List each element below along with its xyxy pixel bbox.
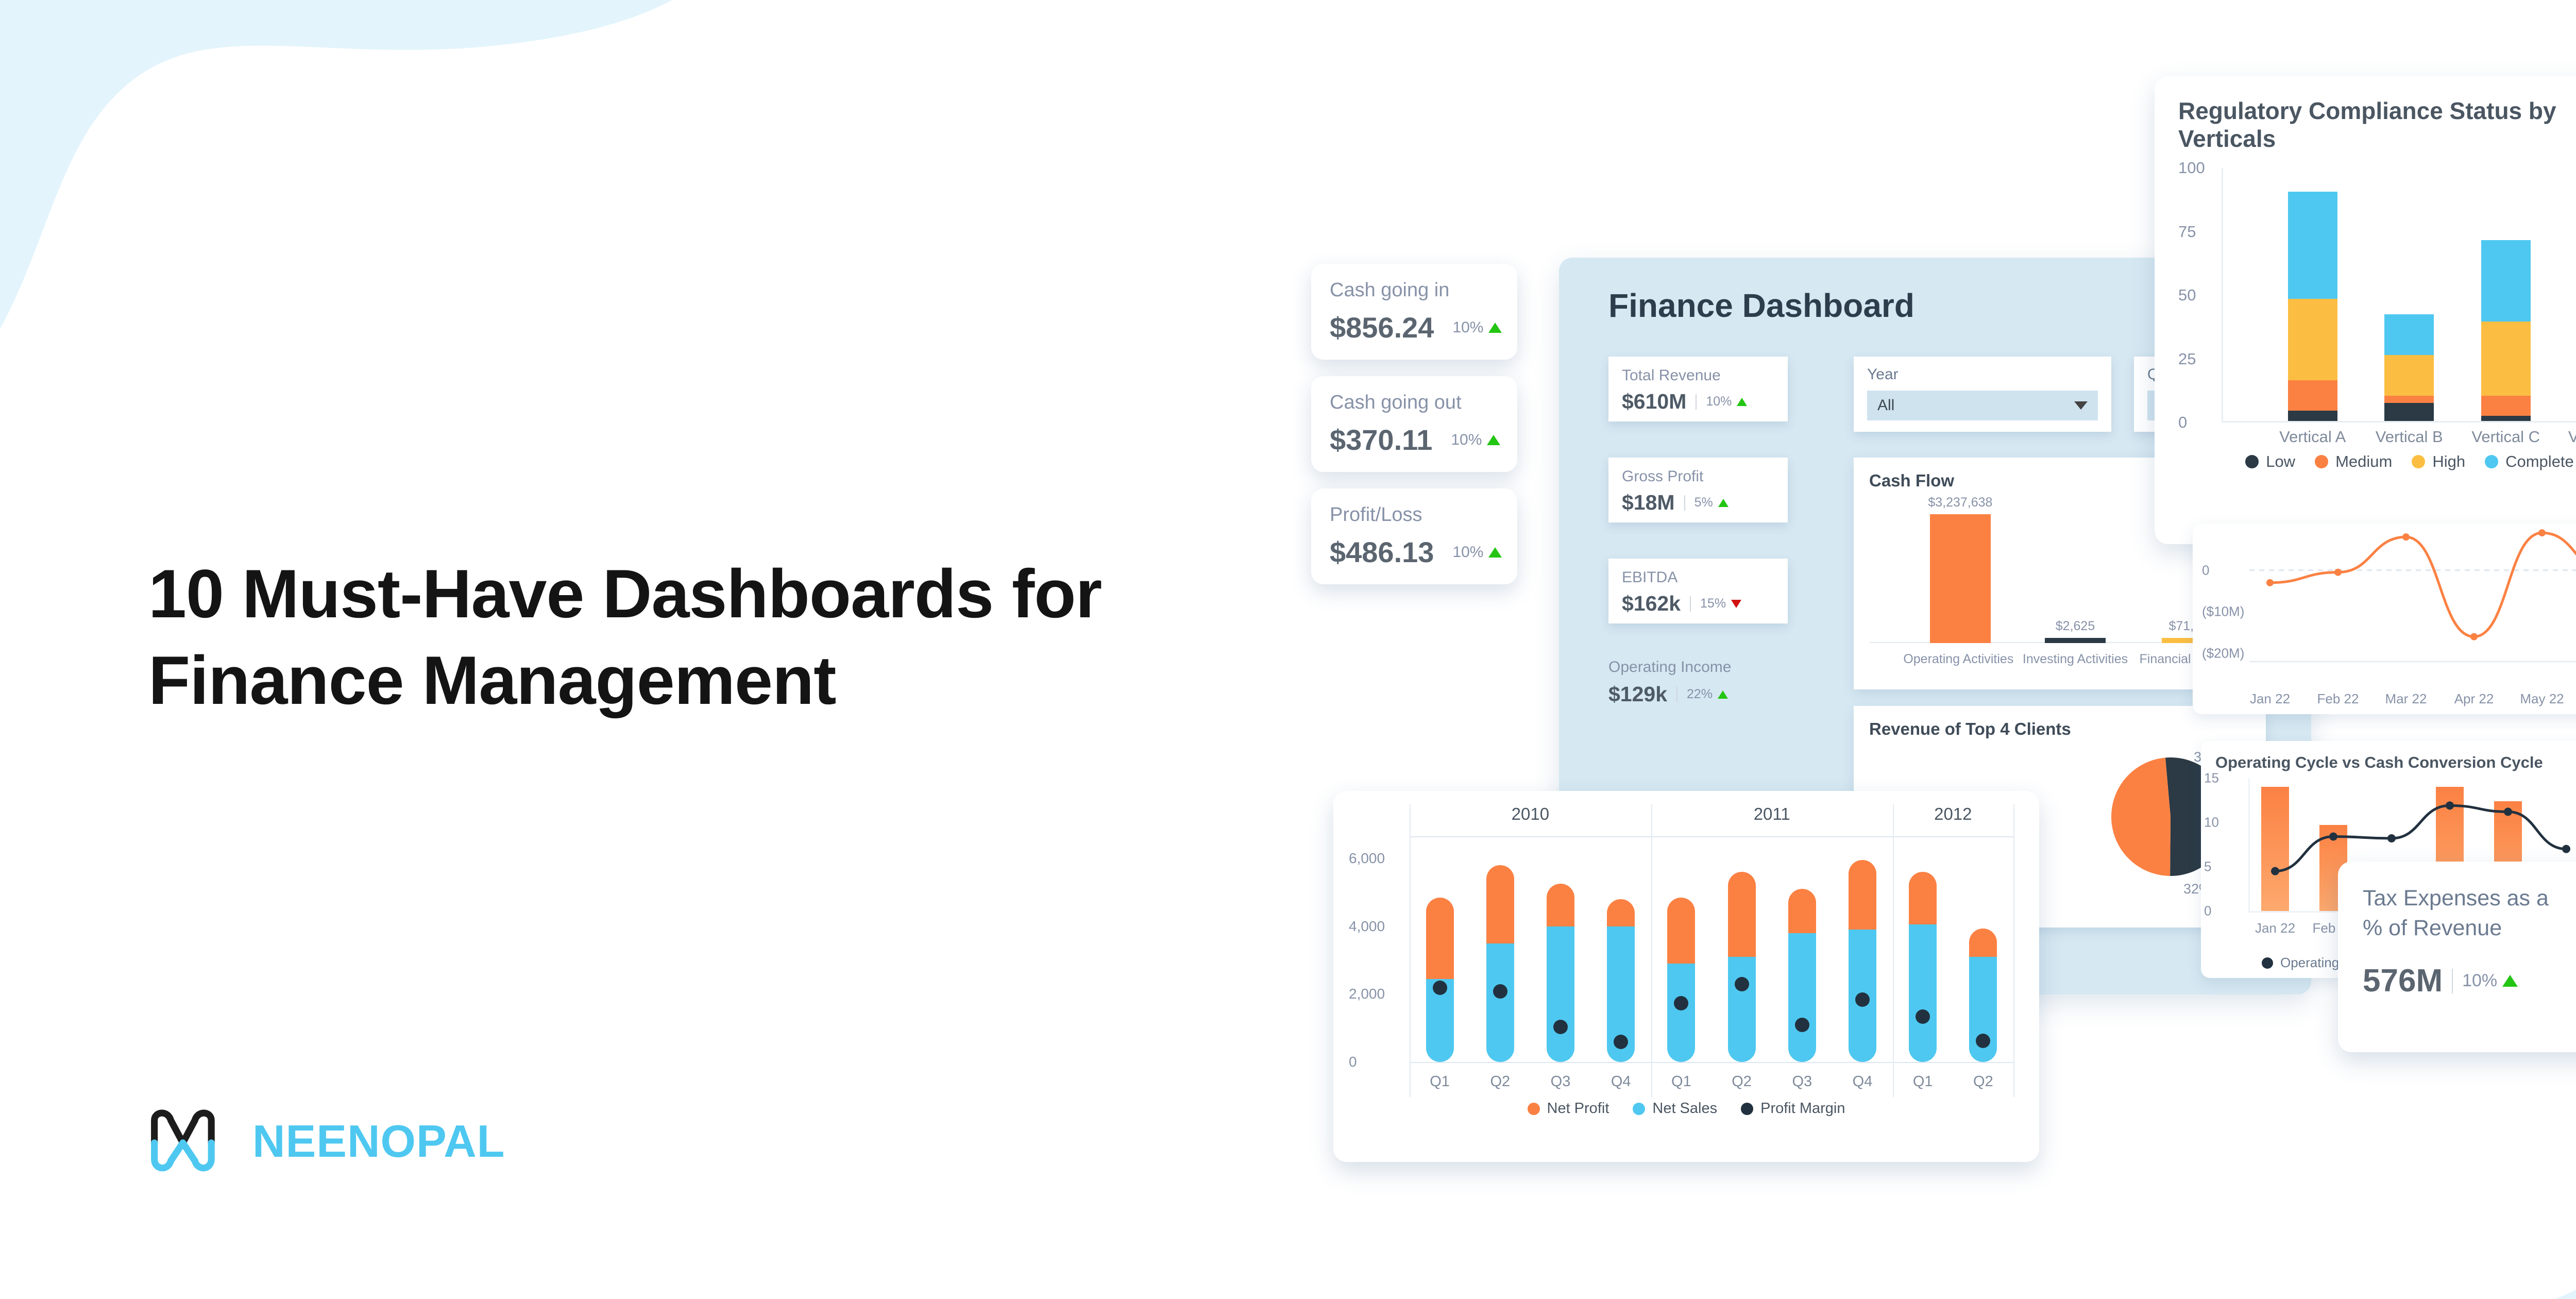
x-axis-tick: Q4 bbox=[1611, 1073, 1631, 1090]
y-axis-tick: 0 bbox=[1349, 1054, 1357, 1070]
legend-dot bbox=[1633, 1103, 1645, 1115]
x-axis-tick: Vertical A bbox=[2279, 428, 2346, 446]
data-point[interactable] bbox=[2266, 579, 2274, 586]
kpi-value: $162k bbox=[1622, 592, 1681, 616]
kpi-card-profit-loss[interactable]: Profit/Loss $486.13 10% bbox=[1311, 488, 1517, 584]
kpi-value: $486.13 bbox=[1330, 535, 1434, 569]
y-axis-tick: 25 bbox=[2178, 350, 2196, 368]
chevron-down-icon bbox=[2074, 401, 2088, 410]
bar-segment-net-profit bbox=[1547, 884, 1574, 926]
y-axis-tick: 6,000 bbox=[1349, 850, 1385, 867]
trend-up-icon bbox=[2502, 975, 2518, 987]
x-axis-tick: Feb 22 bbox=[2317, 691, 2359, 707]
profit-margin-marker[interactable] bbox=[1916, 1009, 1930, 1024]
x-axis-tick: May 22 bbox=[2520, 691, 2564, 707]
y-axis-line bbox=[2222, 168, 2223, 423]
x-axis-tick: Mar 22 bbox=[2385, 691, 2427, 707]
bar-segment-net-sales bbox=[1547, 926, 1574, 1062]
bar-segment-medium bbox=[2288, 380, 2337, 411]
net-profit-plot: 02,0004,0006,000201020112012Q1Q2Q3Q4Q1Q2… bbox=[1349, 804, 2024, 1098]
net-profit-net-sales-chart-card: 02,0004,0006,000201020112012Q1Q2Q3Q4Q1Q2… bbox=[1333, 791, 2039, 1162]
legend-dot bbox=[1741, 1103, 1753, 1115]
legend-item[interactable]: Net Sales bbox=[1633, 1100, 1717, 1117]
kpi-delta-text: 10% bbox=[1706, 394, 1732, 409]
bar-segment-net-sales bbox=[1486, 943, 1514, 1062]
stacked-bar[interactable] bbox=[2384, 314, 2434, 421]
x-axis-tick: Vertical D bbox=[2568, 428, 2576, 446]
stacked-bar[interactable] bbox=[2481, 240, 2531, 421]
stacked-bar[interactable] bbox=[1909, 872, 1937, 1062]
trend-down-icon bbox=[1731, 600, 1741, 608]
legend-dot bbox=[2245, 455, 2259, 468]
kpi-label: Cash going out bbox=[1330, 392, 1499, 414]
kpi-card-cash-going-out[interactable]: Cash going out $370.11 10% bbox=[1311, 376, 1517, 472]
data-point[interactable] bbox=[2334, 569, 2342, 576]
trend-up-icon bbox=[1488, 323, 1502, 333]
kpi-label: Cash going in bbox=[1330, 279, 1499, 301]
divider bbox=[1676, 687, 1677, 702]
divider bbox=[2452, 969, 2453, 993]
cash-trend-line-chart: 0($10M)($20M)Jan 22Feb 22Mar 22Apr 22May… bbox=[2193, 524, 2576, 714]
kpi-value: $129k bbox=[1608, 682, 1667, 706]
y-axis-tick: 4,000 bbox=[1349, 918, 1385, 935]
x-axis-tick: Operating Activities bbox=[1903, 652, 2013, 667]
kpi-delta-text: 10% bbox=[1452, 319, 1483, 336]
bar-segment-net-profit bbox=[1667, 898, 1695, 964]
bar-segment-low bbox=[2481, 416, 2531, 421]
legend-dot bbox=[1528, 1103, 1540, 1115]
x-axis-line bbox=[2222, 421, 2576, 423]
bar-segment-net-profit bbox=[1909, 872, 1937, 924]
x-axis-tick: Q2 bbox=[1973, 1073, 1993, 1090]
line-series bbox=[2270, 533, 2576, 637]
y-axis-tick: 75 bbox=[2178, 223, 2196, 241]
kpi-delta: 10% bbox=[1452, 319, 1502, 336]
bar bbox=[2045, 638, 2106, 643]
data-point[interactable] bbox=[2387, 834, 2396, 842]
stacked-bar[interactable] bbox=[1849, 860, 1876, 1062]
kpi-value: $856.24 bbox=[1330, 311, 1434, 344]
stacked-bar[interactable] bbox=[1547, 884, 1574, 1062]
stacked-bar[interactable] bbox=[1486, 865, 1514, 1062]
headline-line-1: 10 Must-Have Dashboards for bbox=[148, 556, 1101, 632]
data-point[interactable] bbox=[2504, 807, 2512, 816]
bar-segment-net-profit bbox=[1849, 860, 1876, 930]
bar-segment-high bbox=[2288, 299, 2337, 380]
decorative-blob-top-left bbox=[0, 0, 819, 562]
kpi-value: $610M bbox=[1622, 390, 1686, 414]
profit-margin-marker[interactable] bbox=[1493, 984, 1507, 999]
kpi-delta-text: 10% bbox=[1452, 544, 1483, 561]
profit-margin-marker[interactable] bbox=[1614, 1035, 1628, 1049]
x-axis-tick: Apr 22 bbox=[2454, 691, 2494, 707]
cash-flow-bar-group[interactable]: $3,237,638 bbox=[1928, 495, 1992, 643]
year-group-header: 2010 bbox=[1512, 804, 1549, 824]
kpi-card-ebitda[interactable]: EBITDA $162k 15% bbox=[1608, 559, 1788, 623]
bar-segment-low bbox=[2384, 403, 2434, 421]
y-axis-tick: 0 bbox=[2178, 413, 2187, 432]
group-separator bbox=[2013, 804, 2014, 1097]
legend-label: Net Sales bbox=[1652, 1100, 1717, 1117]
bar-segment-low bbox=[2288, 411, 2337, 421]
page-title: 10 Must-Have Dashboards for Finance Mana… bbox=[148, 551, 1308, 724]
profit-margin-marker[interactable] bbox=[1433, 981, 1447, 995]
kpi-card-total-revenue[interactable]: Total Revenue $610M 10% bbox=[1608, 357, 1788, 421]
kpi-label: Gross Profit bbox=[1622, 468, 1774, 485]
bar-segment-net-profit bbox=[1607, 899, 1635, 926]
group-separator bbox=[1410, 804, 1411, 1097]
kpi-delta: 22% bbox=[1687, 687, 1728, 702]
bar-segment-net-sales bbox=[1909, 924, 1937, 1062]
profit-margin-marker[interactable] bbox=[1855, 992, 1870, 1007]
kpi-card-gross-profit[interactable]: Gross Profit $18M 5% bbox=[1608, 458, 1788, 522]
divider bbox=[1696, 394, 1697, 410]
regulatory-legend: LowMediumHighComplete bbox=[2178, 452, 2576, 471]
kpi-card-operating-income[interactable]: Operating Income $129k 22% bbox=[1608, 659, 1788, 706]
legend-label: Net Profit bbox=[1547, 1100, 1609, 1117]
divider bbox=[1684, 495, 1685, 511]
legend-dot bbox=[2315, 455, 2328, 468]
kpi-delta: 15% bbox=[1700, 596, 1741, 611]
cash-flow-bar-group[interactable]: $2,625 bbox=[2045, 619, 2106, 643]
divider bbox=[1690, 596, 1691, 612]
tax-label-line-1: Tax Expenses as a bbox=[2363, 886, 2549, 910]
kpi-label: Operating Income bbox=[1608, 659, 1788, 676]
bar-segment-medium bbox=[2384, 396, 2434, 403]
x-axis-tick: Vertical B bbox=[2376, 428, 2443, 446]
tax-label-line-2: % of Revenue bbox=[2363, 916, 2502, 940]
legend-item[interactable]: Profit Margin bbox=[1741, 1100, 1845, 1117]
y-axis-tick: 2,000 bbox=[1349, 986, 1385, 1002]
profit-margin-marker[interactable] bbox=[1735, 977, 1749, 991]
legend-item-complete[interactable]: Complete bbox=[2485, 452, 2574, 471]
tax-delta-text: 10% bbox=[2462, 971, 2497, 991]
profit-margin-marker[interactable] bbox=[1976, 1034, 1990, 1048]
x-axis-tick: Q1 bbox=[1430, 1073, 1450, 1090]
bar-segment-net-profit bbox=[1728, 872, 1756, 957]
legend-item-high[interactable]: High bbox=[2412, 452, 2465, 471]
data-point[interactable] bbox=[2446, 801, 2454, 809]
legend-item-low[interactable]: Low bbox=[2245, 452, 2295, 471]
trend-up-icon bbox=[1487, 435, 1500, 445]
regulatory-chart-title: Regulatory Compliance Status by Vertical… bbox=[2178, 97, 2576, 153]
legend-label: High bbox=[2432, 452, 2465, 471]
bar-segment-net-profit bbox=[1426, 898, 1454, 979]
bar-segment-net-profit bbox=[1969, 929, 1997, 957]
x-axis-tick: Q3 bbox=[1792, 1073, 1812, 1090]
group-separator bbox=[1893, 804, 1894, 1097]
data-point[interactable] bbox=[2271, 867, 2279, 875]
bar-segment-net-profit bbox=[1788, 889, 1816, 933]
filter-label: Year bbox=[1867, 366, 2098, 383]
kpi-label: EBITDA bbox=[1622, 569, 1774, 586]
filter-year[interactable]: Year All bbox=[1854, 357, 2111, 432]
stacked-bar[interactable] bbox=[1728, 872, 1756, 1062]
tax-card-label: Tax Expenses as a % of Revenue bbox=[2363, 883, 2576, 943]
y-axis-tick: 50 bbox=[2178, 286, 2196, 305]
year-group-header: 2012 bbox=[1934, 804, 1972, 824]
data-point[interactable] bbox=[2470, 633, 2478, 640]
group-separator bbox=[1651, 804, 1652, 1097]
x-axis-tick: Q1 bbox=[1671, 1073, 1691, 1090]
kpi-label: Profit/Loss bbox=[1330, 504, 1499, 526]
bar-segment-complete bbox=[2481, 240, 2531, 322]
bar-segment-complete bbox=[2384, 314, 2434, 355]
legend-label: Profit Margin bbox=[1760, 1100, 1845, 1117]
kpi-label: Total Revenue bbox=[1622, 367, 1774, 384]
x-axis-tick: Q4 bbox=[1853, 1073, 1873, 1090]
regulatory-plot: 0255075100Vertical AVertical BVertical C… bbox=[2178, 168, 2576, 446]
bar-segment-net-sales bbox=[1788, 933, 1816, 1062]
legend-dot bbox=[2412, 455, 2425, 468]
kpi-delta: 5% bbox=[1694, 495, 1728, 510]
profit-margin-marker[interactable] bbox=[1674, 996, 1688, 1010]
kpi-delta-text: 15% bbox=[1700, 596, 1726, 611]
line-chart-svg bbox=[2193, 524, 2576, 714]
kpi-delta: 10% bbox=[1451, 431, 1500, 449]
kpi-value: $370.11 bbox=[1330, 423, 1432, 457]
x-axis-tick: Q2 bbox=[1490, 1073, 1510, 1090]
legend-label: Low bbox=[2266, 452, 2295, 471]
bar-data-label: $2,625 bbox=[2056, 619, 2095, 634]
header-rule bbox=[1410, 836, 2013, 837]
bar-segment-medium bbox=[2481, 396, 2531, 416]
x-axis-line bbox=[1410, 1062, 2013, 1063]
year-dropdown[interactable]: All bbox=[1867, 391, 2098, 420]
data-point[interactable] bbox=[2562, 845, 2570, 853]
bar-segment-net-profit bbox=[1486, 865, 1514, 943]
regulatory-compliance-card: Regulatory Compliance Status by Vertical… bbox=[2155, 76, 2576, 544]
stacked-bar[interactable] bbox=[2288, 192, 2337, 421]
trend-up-icon bbox=[1488, 547, 1502, 558]
kpi-card-cash-going-in[interactable]: Cash going in $856.24 10% bbox=[1311, 264, 1517, 360]
profit-margin-marker[interactable] bbox=[1553, 1020, 1568, 1034]
legend-dot bbox=[2485, 455, 2498, 468]
bar bbox=[1930, 514, 1991, 643]
bar-segment-high bbox=[2384, 355, 2434, 396]
kpi-delta: 10% bbox=[1452, 544, 1502, 561]
data-point[interactable] bbox=[2538, 529, 2546, 536]
x-axis-tick: Jan 22 bbox=[2250, 691, 2290, 707]
kpi-delta-text: 22% bbox=[1687, 687, 1713, 702]
legend-label: Complete bbox=[2505, 452, 2574, 471]
trend-up-icon bbox=[1737, 398, 1747, 406]
bar-segment-complete bbox=[2288, 192, 2337, 298]
x-axis-tick: Q1 bbox=[1913, 1073, 1933, 1090]
stacked-bar[interactable] bbox=[1426, 898, 1454, 1062]
legend-item[interactable]: Net Profit bbox=[1528, 1100, 1609, 1117]
tax-card-value: 576M bbox=[2363, 963, 2443, 999]
year-dropdown-value: All bbox=[1877, 397, 1894, 414]
y-axis-tick: 100 bbox=[2178, 159, 2205, 177]
top-clients-title: Revenue of Top 4 Clients bbox=[1869, 719, 2250, 739]
x-axis-tick: Investing Activities bbox=[2023, 652, 2128, 667]
brand-logo: NEENOPAL bbox=[148, 1103, 505, 1180]
x-axis-tick: Vertical C bbox=[2471, 428, 2540, 446]
x-axis-tick: Jan 22 bbox=[2255, 920, 2295, 936]
headline-line-2: Finance Management bbox=[148, 643, 836, 719]
bar-segment-net-sales bbox=[1728, 957, 1756, 1062]
bar-data-label: $3,237,638 bbox=[1928, 495, 1992, 510]
legend-label: Medium bbox=[2335, 452, 2392, 471]
kpi-value: $18M bbox=[1622, 491, 1675, 515]
x-axis-tick: Q2 bbox=[1732, 1073, 1752, 1090]
bar-segment-net-sales bbox=[1667, 964, 1695, 1062]
stacked-bar[interactable] bbox=[1667, 898, 1695, 1062]
net-profit-legend: Net ProfitNet SalesProfit Margin bbox=[1349, 1100, 2024, 1117]
trend-up-icon bbox=[1718, 499, 1728, 507]
kpi-delta-text: 10% bbox=[1451, 431, 1482, 449]
legend-item-medium[interactable]: Medium bbox=[2315, 452, 2392, 471]
tax-card-delta: 10% bbox=[2462, 971, 2518, 991]
kpi-delta-text: 5% bbox=[1694, 495, 1713, 510]
kpi-delta: 10% bbox=[1706, 394, 1747, 409]
pie-slice[interactable] bbox=[2111, 757, 2171, 876]
data-point[interactable] bbox=[2329, 833, 2337, 841]
stacked-bar[interactable] bbox=[1788, 889, 1816, 1062]
data-point[interactable] bbox=[2402, 533, 2410, 541]
x-axis-tick: Q3 bbox=[1551, 1073, 1571, 1090]
year-group-header: 2011 bbox=[1754, 804, 1790, 824]
neenopal-m-mark-icon bbox=[148, 1103, 231, 1180]
bar-segment-high bbox=[2481, 322, 2531, 395]
brand-name: NEENOPAL bbox=[252, 1119, 505, 1164]
trend-up-icon bbox=[1718, 690, 1728, 699]
kpi-card-tax-expenses[interactable]: Tax Expenses as a % of Revenue 576M 10% bbox=[2338, 862, 2576, 1052]
profit-margin-marker[interactable] bbox=[1795, 1018, 1809, 1032]
